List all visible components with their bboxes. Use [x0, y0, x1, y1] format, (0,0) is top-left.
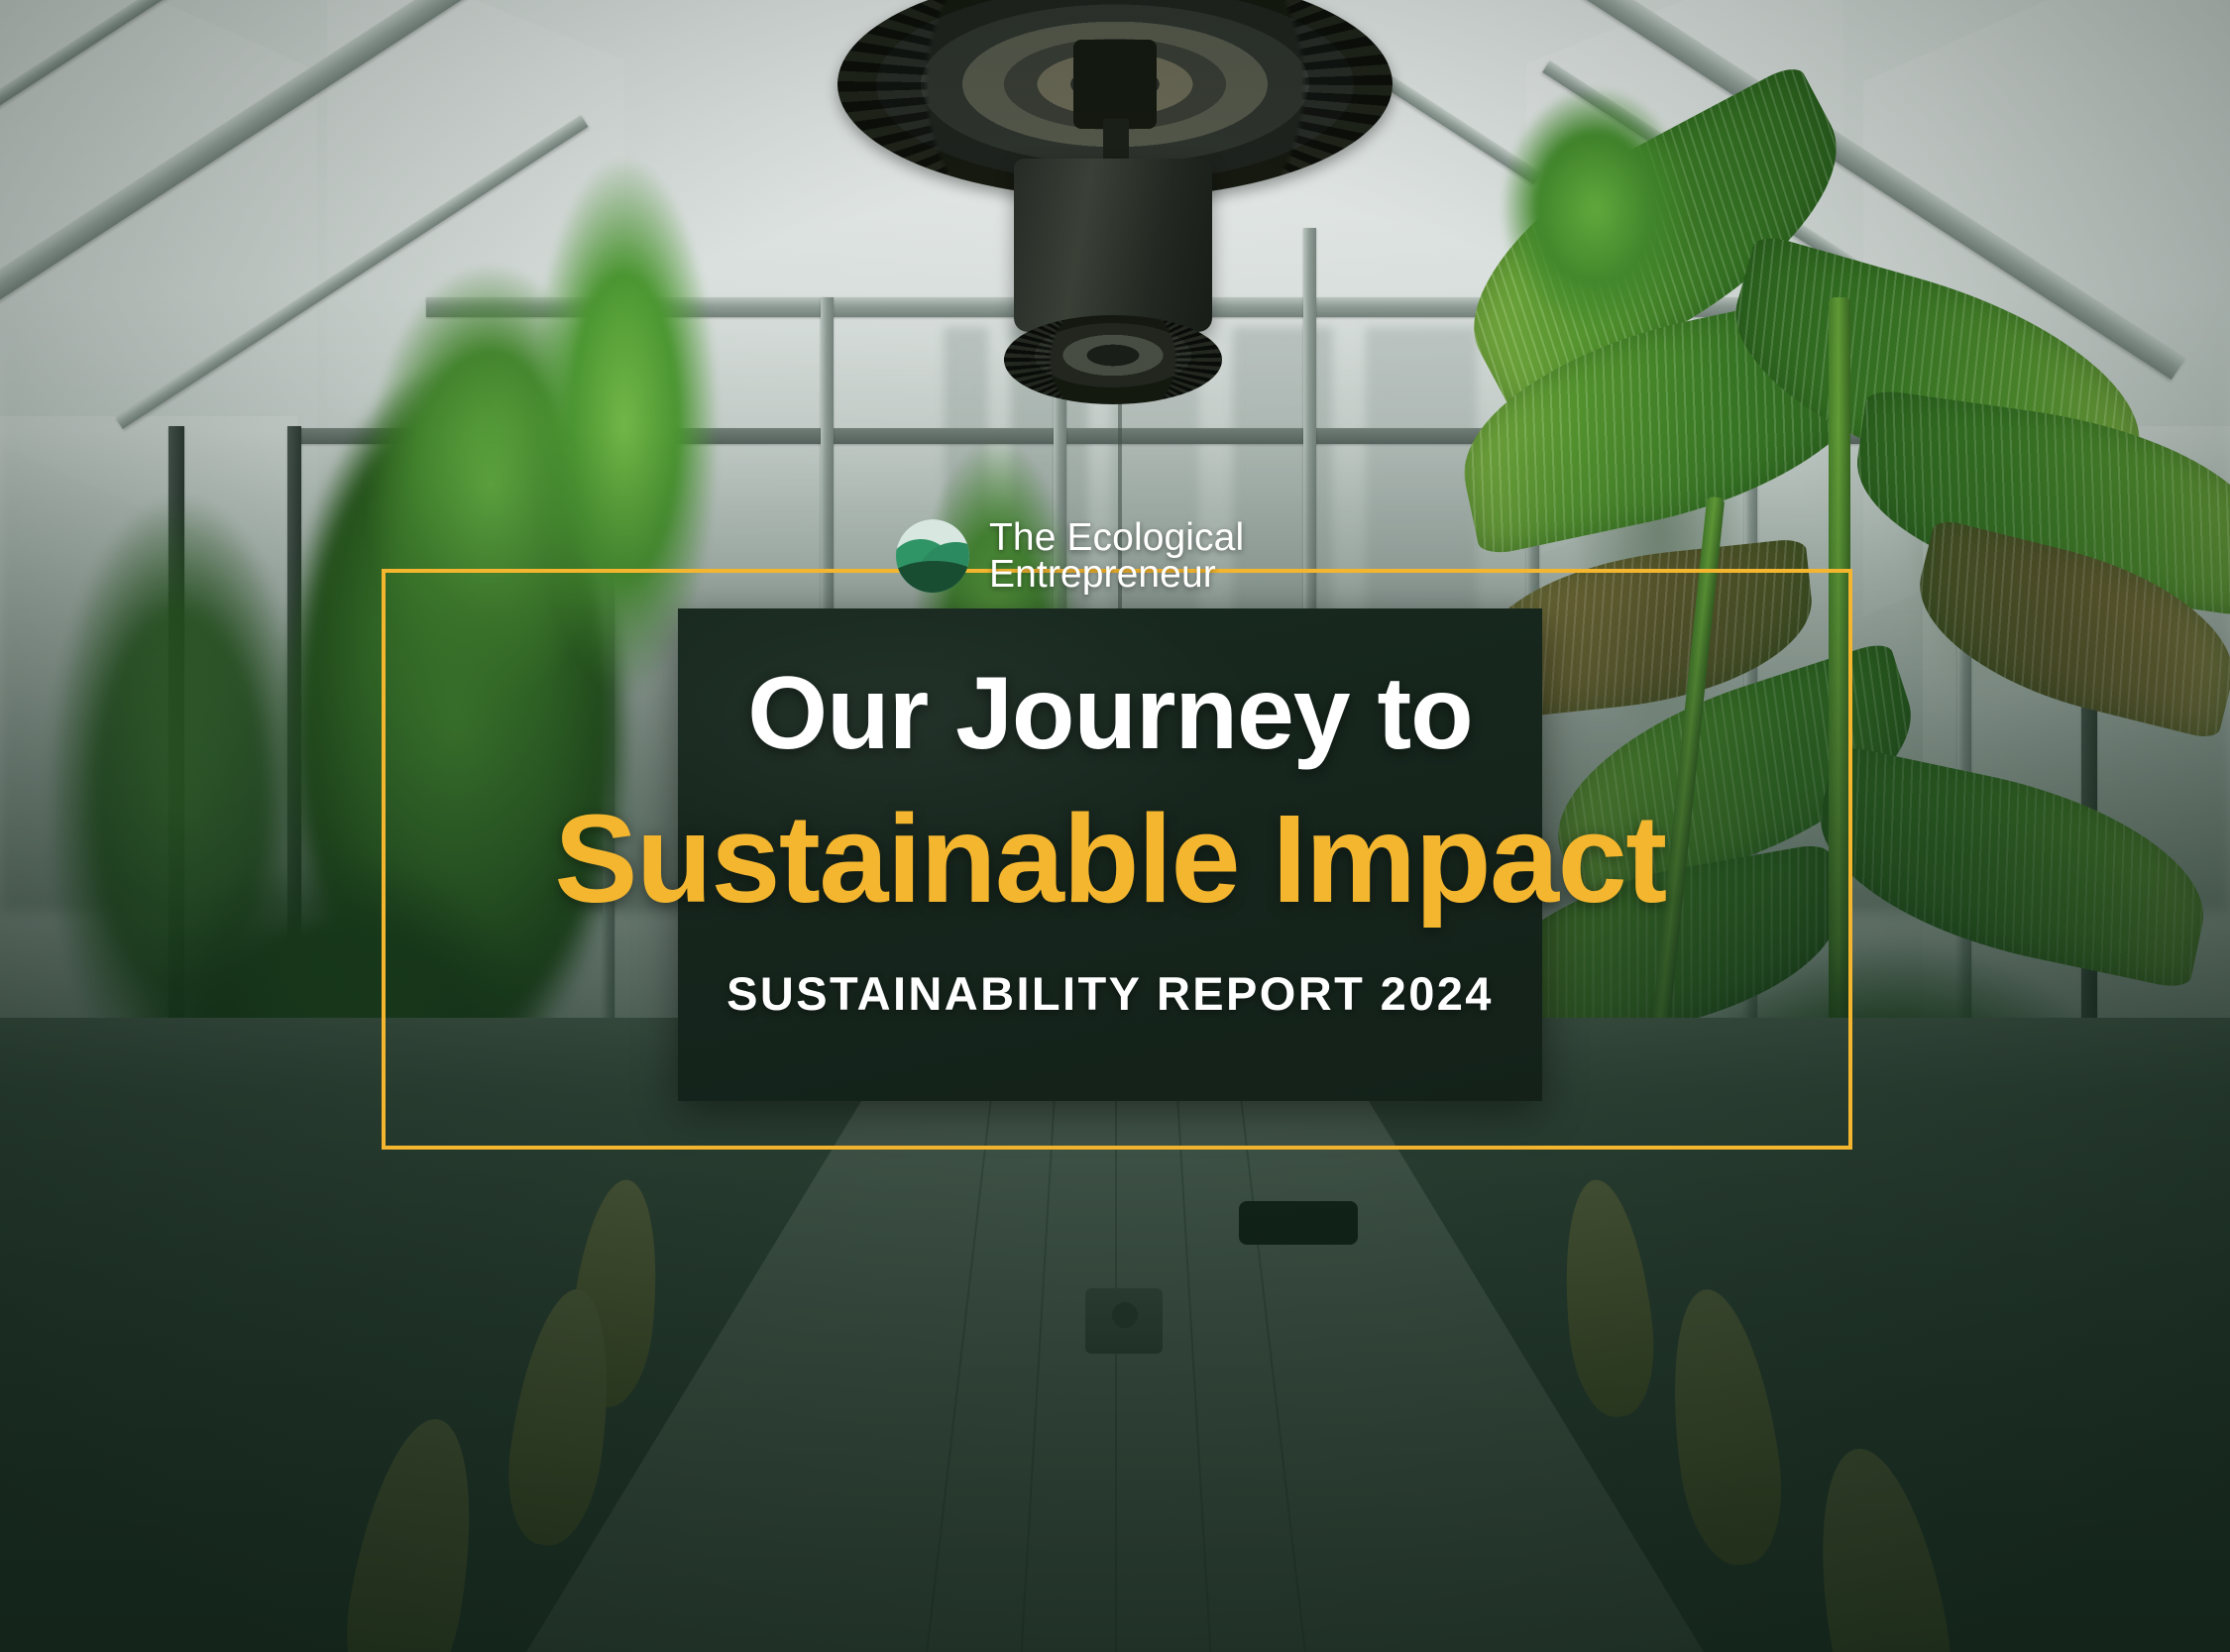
brand-logo: The Ecological Entrepreneur [896, 519, 1244, 594]
brand-name: The Ecological Entrepreneur [989, 519, 1244, 594]
brand-name-line2: Entrepreneur [989, 556, 1244, 593]
table-grommet [1085, 1288, 1163, 1354]
circular-hills-logo-icon [896, 519, 969, 593]
brand-name-line1: The Ecological [989, 519, 1244, 556]
cover-headline: Our Journey to [678, 662, 1542, 765]
fan-hub [1073, 40, 1157, 129]
ceiling-fan-heater [837, 0, 1393, 258]
cover-subtitle: SUSTAINABILITY REPORT 2024 [678, 966, 1542, 1021]
cover-headline-accent: Sustainable Impact [496, 797, 1725, 922]
fan-housing [1014, 159, 1212, 332]
logo-hill-front [896, 561, 969, 594]
report-cover-slide: The Ecological Entrepreneur Our Journey … [0, 0, 2230, 1652]
floor-power-unit [1239, 1201, 1358, 1245]
